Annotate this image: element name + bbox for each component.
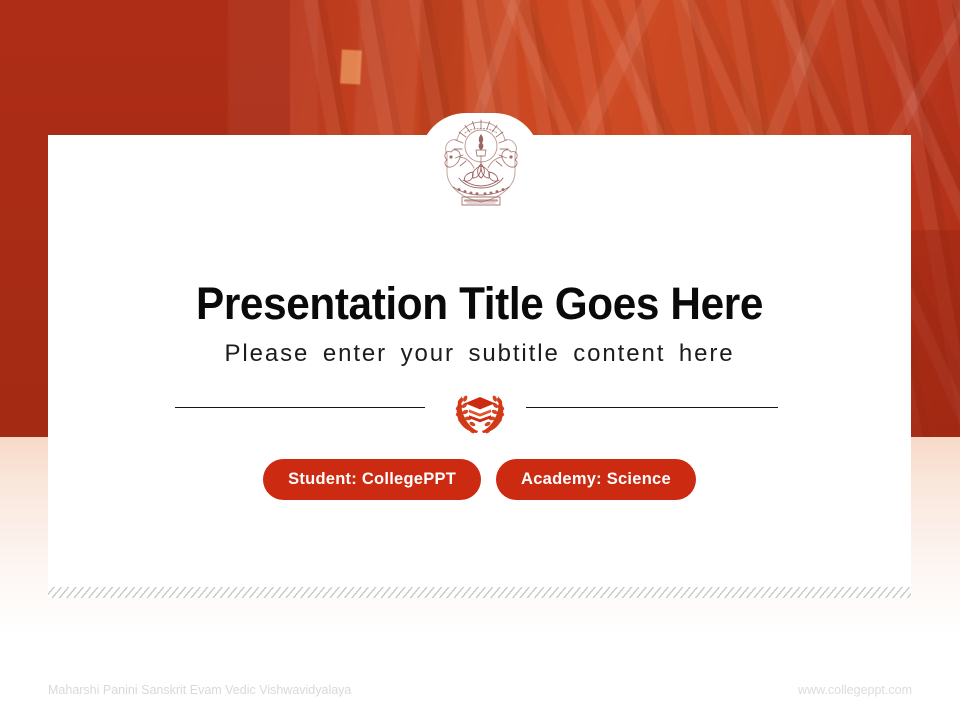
badge-student[interactable]: Student: CollegePPT: [263, 459, 481, 500]
divider-rule-left: [175, 407, 425, 408]
divider-rule-right: [526, 407, 778, 408]
page-title: Presentation Title Goes Here: [74, 278, 885, 330]
footer-institution: Maharshi Panini Sanskrit Evam Vedic Vish…: [48, 683, 351, 697]
university-crest-icon: [429, 116, 533, 208]
page-subtitle: Please enter your subtitle content here: [48, 340, 911, 368]
divider: [48, 390, 911, 442]
badge-academy[interactable]: Academy: Science: [496, 459, 696, 500]
presentation-slide: Presentation Title Goes Here Please ente…: [0, 0, 960, 720]
card-bottom-hatch-strip: [48, 587, 911, 598]
badge-row: Student: CollegePPT Academy: Science: [48, 459, 911, 500]
graduation-cap-laurel-icon: [451, 387, 509, 437]
footer-website[interactable]: www.collegeppt.com: [798, 683, 912, 697]
